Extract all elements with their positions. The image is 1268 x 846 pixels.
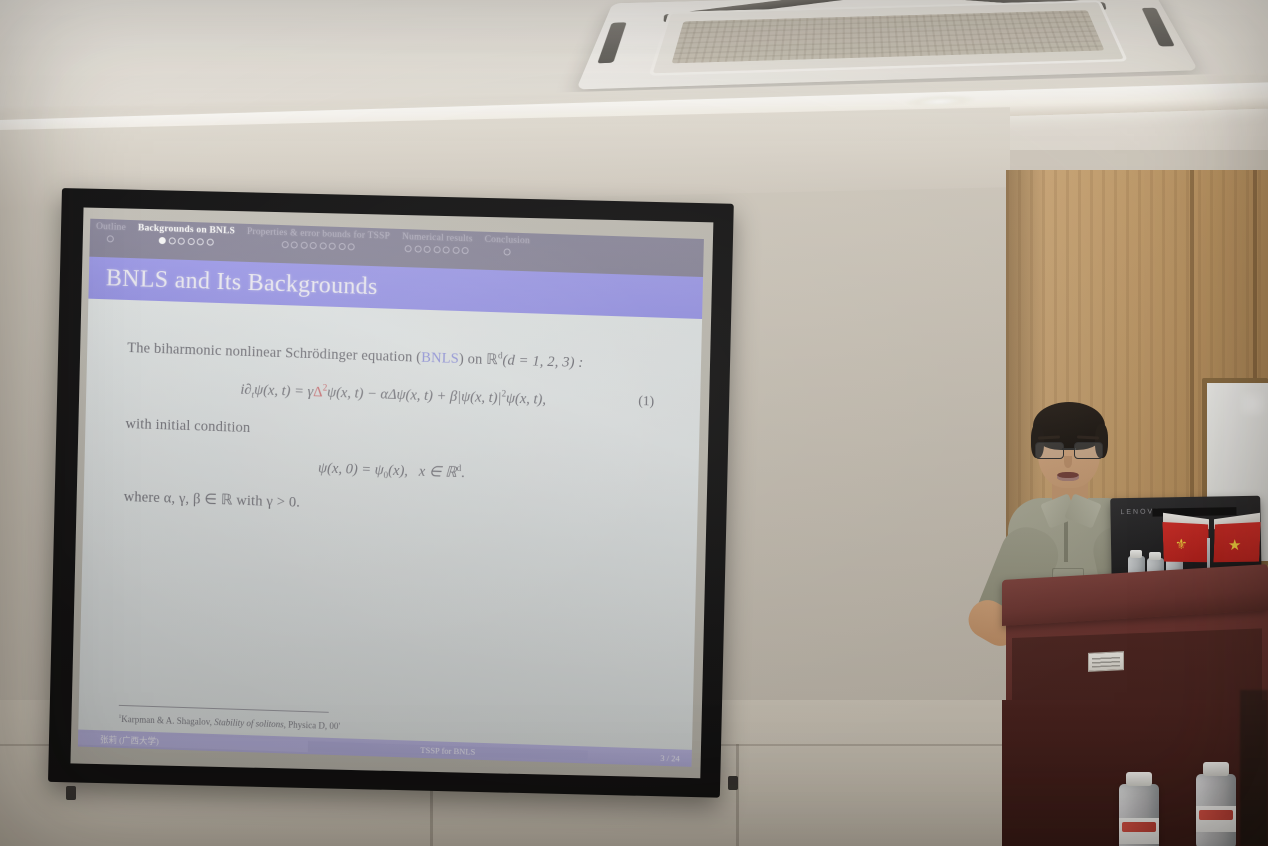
wall-panel-divider [736, 744, 739, 846]
photo-scene: Outline Backgrounds on BNLS [0, 0, 1268, 846]
projection-screen: Outline Backgrounds on BNLS [48, 188, 742, 804]
intro-text-b: ) on [459, 351, 487, 368]
nav-dot[interactable] [462, 247, 469, 254]
equation-1-number: (1) [638, 393, 654, 410]
footnote-text-b: , Physica D, 00' [284, 719, 341, 731]
nav-dot[interactable] [452, 247, 459, 254]
nav-dot[interactable] [107, 235, 114, 242]
nav-dot[interactable] [310, 242, 317, 249]
nav-dot[interactable] [414, 245, 421, 252]
eq2-d: . [461, 464, 465, 480]
projected-slide: Outline Backgrounds on BNLS [78, 219, 704, 767]
eq1-pre: i∂ [240, 381, 252, 397]
nav-dot[interactable] [178, 238, 185, 245]
screen-mount-bracket [66, 786, 76, 800]
nav-dot[interactable] [300, 242, 307, 249]
nav-dots [138, 236, 235, 246]
star-icon: ★ [1228, 538, 1241, 553]
nav-label: Conclusion [484, 234, 530, 247]
nav-dot[interactable] [168, 237, 175, 244]
bottle-cap [1149, 552, 1161, 560]
bnls-highlight: BNLS [421, 350, 459, 367]
presenter-nose [1064, 456, 1072, 468]
nav-section-conclusion[interactable]: Conclusion [478, 234, 536, 257]
shirt-placket [1064, 516, 1068, 562]
nav-dot[interactable] [443, 246, 450, 253]
podium-asset-label [1088, 651, 1124, 672]
glasses-icon [1035, 442, 1103, 457]
slide-body: The biharmonic nonlinear Schrödinger equ… [78, 299, 702, 753]
eq1-end: ψ(x, t), [506, 390, 546, 407]
nav-label: Outline [96, 221, 126, 234]
nav-dot[interactable] [503, 248, 510, 255]
nav-dot[interactable] [329, 243, 336, 250]
nav-dot[interactable] [319, 242, 326, 249]
bottle-label-accent [1122, 822, 1156, 832]
domain-symbol: ℝ [486, 352, 498, 368]
eq2-b: (x), [388, 462, 408, 479]
bottle-cap [1126, 772, 1152, 786]
intro-line: The biharmonic nonlinear Schrödinger equ… [127, 338, 661, 375]
slide-title: BNLS and Its Backgrounds [106, 265, 378, 301]
bottle-cap [1130, 550, 1142, 558]
domain-tail: (d = 1, 2, 3) : [502, 352, 583, 371]
hammer-sickle-icon: ⚜ [1175, 536, 1191, 552]
nav-section-numerical-results[interactable]: Numerical results [396, 231, 479, 255]
nav-dot[interactable] [187, 238, 194, 245]
nav-dot[interactable] [159, 237, 166, 244]
nav-dot[interactable] [424, 246, 431, 253]
nav-dot[interactable] [291, 241, 298, 248]
nav-dot[interactable] [348, 243, 355, 250]
nav-section-outline[interactable]: Outline [90, 221, 132, 243]
footer-page-number: 3 / 24 [588, 750, 692, 763]
nav-dots [96, 235, 126, 243]
nav-dot[interactable] [433, 246, 440, 253]
nav-section-properties-error-bounds-tssp[interactable]: Properties & error bounds for TSSP [241, 226, 396, 252]
foreground-dark-object [1240, 690, 1268, 846]
presenter-mouth [1057, 472, 1079, 481]
nav-section-backgrounds-on-bnls[interactable]: Backgrounds on BNLS [132, 222, 242, 247]
eq1-mid: ψ(x, t) = γ [254, 382, 313, 400]
screen-mount-bracket [728, 776, 738, 790]
whiteboard-glare [1240, 392, 1266, 416]
bottle-label-accent [1199, 810, 1233, 820]
eq2-a: ψ(x, 0) = ψ [318, 460, 384, 478]
nav-dots [484, 248, 529, 256]
nav-label: Backgrounds on BNLS [138, 222, 235, 237]
eq2-c: x ∈ ℝ [419, 463, 457, 480]
nav-dot[interactable] [281, 241, 288, 248]
nav-label: Numerical results [402, 231, 473, 245]
nav-dot[interactable] [338, 243, 345, 250]
nav-dot[interactable] [206, 239, 213, 246]
nav-dots [402, 245, 473, 254]
eq1-post: ψ(x, t) − αΔψ(x, t) + β|ψ(x, t)| [327, 384, 502, 406]
intro-text-a: The biharmonic nonlinear Schrödinger equ… [127, 340, 421, 366]
bottle-cap [1203, 762, 1229, 776]
nav-dot[interactable] [405, 245, 412, 252]
conference-room: Outline Backgrounds on BNLS [0, 0, 1268, 846]
nav-dot[interactable] [197, 238, 204, 245]
